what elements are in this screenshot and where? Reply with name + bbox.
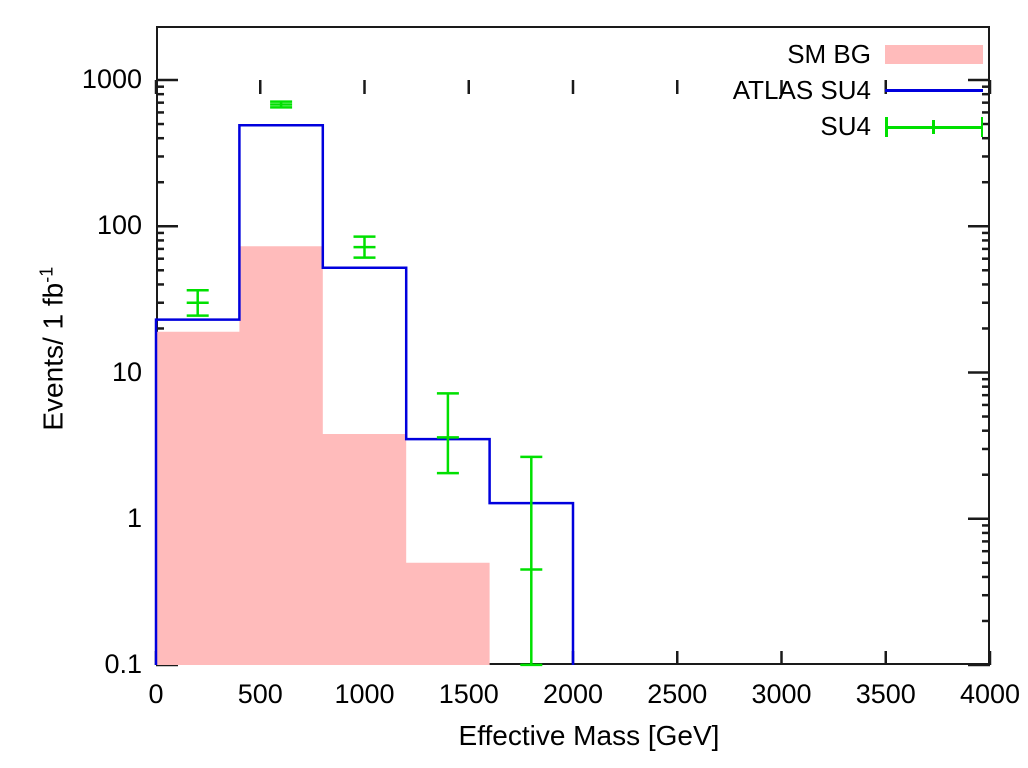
legend-label-atlas-su4: ATLAS SU4 xyxy=(733,77,885,103)
legend: SM BG ATLAS SU4 SU4 xyxy=(653,36,983,144)
errorbar-swatch-marker-icon xyxy=(932,120,935,134)
legend-label-su4: SU4 xyxy=(820,113,885,139)
sm-bg-filled-histogram xyxy=(156,246,490,665)
y-tick-label-0-1: 0.1 xyxy=(22,651,142,678)
legend-key-atlas-su4 xyxy=(885,75,983,105)
legend-key-sm-bg xyxy=(885,39,983,69)
line-swatch-icon xyxy=(885,89,983,92)
y-axis-title: Events/ 1 fb-1 xyxy=(31,119,68,579)
legend-item-sm-bg: SM BG xyxy=(653,36,983,72)
legend-key-su4 xyxy=(885,111,983,141)
legend-label-sm-bg: SM BG xyxy=(787,41,885,67)
errorbar-swatch-cap-left-icon xyxy=(885,117,888,137)
x-axis-title: Effective Mass [GeV] xyxy=(0,722,1028,750)
errorbar-swatch-cap-right-icon xyxy=(981,117,984,137)
filled-band-swatch-icon xyxy=(885,45,983,64)
chart-canvas: 0.11101001000 05001000150020002500300035… xyxy=(0,0,1028,768)
y-tick-label-1000: 1000 xyxy=(22,66,142,93)
x-tick-label-4000: 4000 xyxy=(920,681,1028,708)
legend-item-atlas-su4: ATLAS SU4 xyxy=(653,72,983,108)
y-axis-title-exponent: -1 xyxy=(36,267,56,283)
y-axis-title-text: Events/ 1 fb xyxy=(38,283,69,431)
x-axis-title-text: Effective Mass [GeV] xyxy=(459,720,720,751)
legend-item-su4: SU4 xyxy=(653,108,983,144)
